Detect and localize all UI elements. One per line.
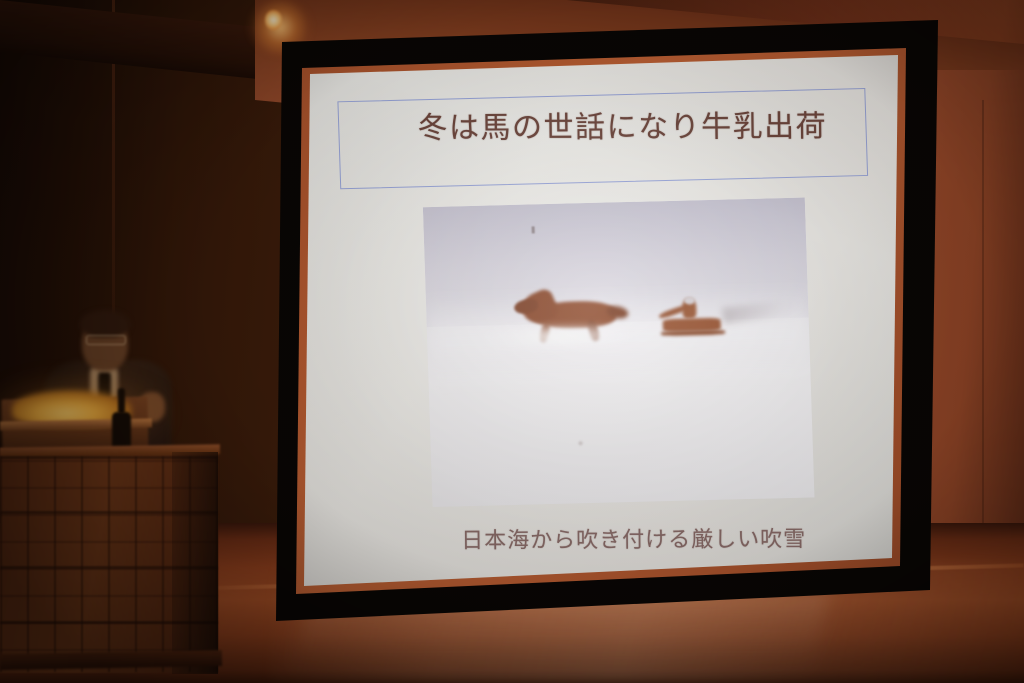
lecture-hall-scene: 冬は馬の世話になり牛乳出荷	[0, 0, 1024, 683]
presenter-hair	[80, 310, 130, 337]
microphone-stem	[118, 388, 125, 414]
sled-runner	[661, 330, 725, 337]
slide-title: 冬は馬の世話になり牛乳出荷	[352, 101, 893, 147]
right-wall-seam-b	[982, 100, 984, 560]
slide-caption: 日本海から吹き付ける厳しい吹雪	[383, 521, 883, 555]
eyeglasses-icon	[86, 335, 126, 345]
podium-side-panel	[172, 452, 218, 674]
photo-snow-spray	[487, 324, 628, 350]
photo-speck-upper	[532, 226, 535, 233]
projection-screen[interactable]: 冬は馬の世話になり牛乳出荷	[258, 20, 938, 625]
photo-speck-lower	[579, 441, 583, 445]
slide-photo	[423, 198, 815, 508]
slide: 冬は馬の世話になり牛乳出荷	[310, 43, 913, 578]
